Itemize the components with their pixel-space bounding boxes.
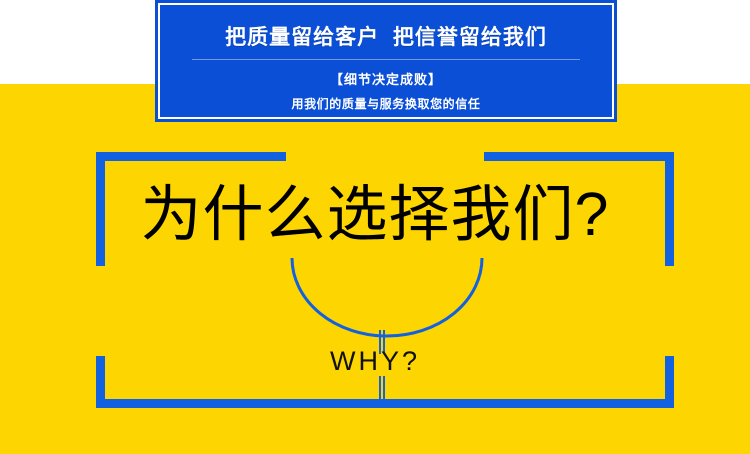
header-banner-inner-border: 把质量留给客户 把信誉留给我们 【细节决定成败】 用我们的质量与服务换取您的信任: [158, 3, 614, 119]
banner-subtitle-bracketed: 【细节决定成败】: [330, 69, 442, 88]
bracket-bottom-left-horizontal: [96, 399, 386, 408]
header-banner: 把质量留给客户 把信誉留给我们 【细节决定成败】 用我们的质量与服务换取您的信任: [155, 0, 617, 122]
poster-canvas: 把质量留给客户 把信誉留给我们 【细节决定成败】 用我们的质量与服务换取您的信任…: [0, 0, 750, 454]
bracket-bottom-right-horizontal: [384, 399, 674, 408]
banner-title: 把质量留给客户 把信誉留给我们: [225, 21, 547, 51]
bracket-top-left-horizontal: [96, 152, 286, 161]
banner-divider: [192, 59, 581, 60]
double-line-stem-lower-icon: [379, 376, 385, 403]
banner-subtitle-line: 用我们的质量与服务换取您的信任: [291, 95, 480, 112]
bracket-top-right-horizontal: [484, 152, 674, 161]
page-title: 为什么选择我们?: [0, 184, 750, 245]
semicircle-arc-icon: [289, 256, 485, 342]
why-label: WHY?: [0, 348, 750, 375]
